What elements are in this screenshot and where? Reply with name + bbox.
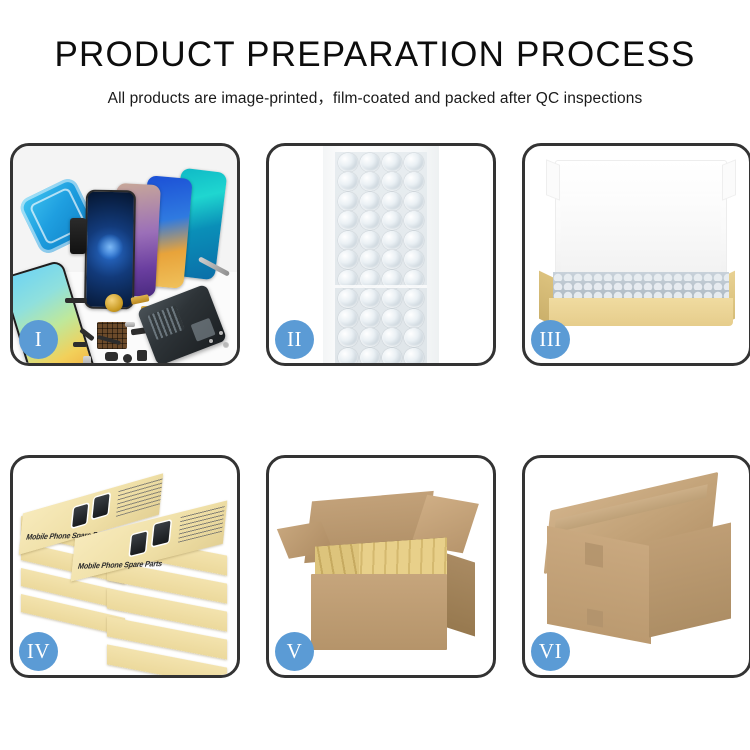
screw-icon-2: [209, 339, 213, 343]
process-step-panel-6: VI: [522, 455, 750, 678]
part-button-round: [123, 354, 132, 363]
step-badge-5: V: [275, 632, 314, 671]
step-badge-1: I: [19, 320, 58, 359]
screw-icon-1: [219, 331, 223, 335]
step-badge-4: IV: [19, 632, 58, 671]
part-cable-2: [73, 342, 87, 347]
carton-side-face: [447, 553, 475, 636]
part-sim-tray: [83, 356, 91, 363]
speaker-coil-part-icon: [105, 294, 123, 312]
carton-tab-lower: [587, 608, 603, 627]
part-chip-small: [137, 350, 147, 361]
step-badge-6: VI: [531, 632, 570, 671]
phone-screen-strip: [70, 218, 86, 254]
carton-side-face: [649, 523, 731, 638]
carton-front-face: [311, 574, 447, 650]
process-step-panel-5: V: [266, 455, 496, 678]
step-badge-3: III: [531, 320, 570, 359]
bubble-wrap-sheet: [335, 152, 427, 363]
carton-tab-upper: [585, 542, 603, 567]
part-connector-1: [65, 298, 87, 303]
process-step-panel-3: III: [522, 143, 750, 366]
page-subtitle: All products are image-printed，film-coat…: [0, 75, 750, 108]
screw-icon-3: [224, 343, 228, 347]
process-step-panel-2: II: [266, 143, 496, 366]
part-camera-module: [105, 352, 118, 361]
process-steps-grid: I II: [10, 143, 743, 678]
process-step-panel-4: Mobile Phone Spare Parts Mobile Phone Sp…: [10, 455, 240, 678]
process-step-panel-1: I: [10, 143, 240, 366]
part-bracket: [125, 322, 135, 327]
page-title: PRODUCT PREPARATION PROCESS: [0, 0, 750, 75]
page-header: PRODUCT PREPARATION PROCESS All products…: [0, 0, 750, 108]
white-foam-sheet: [561, 194, 721, 276]
kraft-box-front: [549, 298, 733, 326]
step-badge-2: II: [275, 320, 314, 359]
phone-screen-dark-blue: [84, 190, 136, 310]
